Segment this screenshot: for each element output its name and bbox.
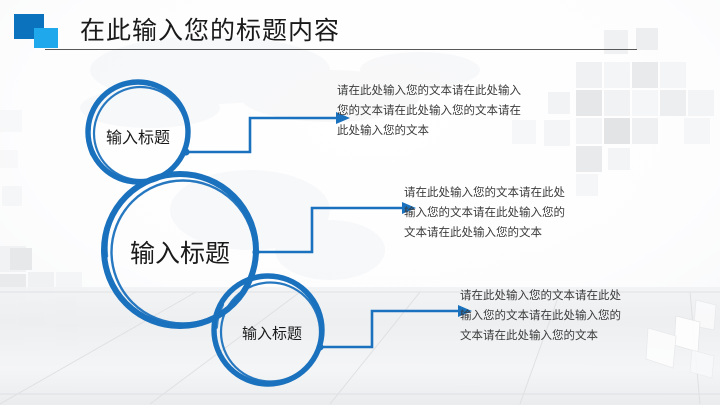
connector-2	[256, 208, 402, 252]
text-block-2-line-3: 文本请在此处输入您的文本	[404, 222, 565, 242]
node-bottom-label: 输入标题	[242, 323, 302, 344]
text-block-3-line-3: 文本请在此处输入您的文本	[460, 325, 621, 345]
text-block-1: 请在此处输入您的文本请在此处输入 您的文本请在此处输入您的文本请在 此处输入您的…	[337, 80, 521, 140]
text-block-1-line-2: 您的文本请在此处输入您的文本请在	[337, 100, 521, 120]
text-block-1-line-3: 此处输入您的文本	[337, 120, 521, 140]
text-block-3-line-1: 请在此处输入您的文本请在此处	[460, 285, 621, 305]
connector-1	[186, 118, 336, 152]
node-top-label: 输入标题	[106, 124, 170, 148]
text-block-2-line-2: 输入您的文本请在此处输入您的	[404, 202, 565, 222]
text-block-3: 请在此处输入您的文本请在此处 输入您的文本请在此处输入您的 文本请在此处输入您的…	[460, 285, 621, 345]
text-block-2-line-1: 请在此处输入您的文本请在此处	[404, 182, 565, 202]
text-block-1-line-1: 请在此处输入您的文本请在此处输入	[337, 80, 521, 100]
connector-3	[320, 311, 458, 347]
text-block-3-line-2: 输入您的文本请在此处输入您的	[460, 305, 621, 325]
node-middle-label: 输入标题	[130, 234, 230, 270]
slide-canvas: 在此输入您的标题内容	[0, 0, 720, 405]
text-block-2: 请在此处输入您的文本请在此处 输入您的文本请在此处输入您的 文本请在此处输入您的…	[404, 182, 565, 242]
